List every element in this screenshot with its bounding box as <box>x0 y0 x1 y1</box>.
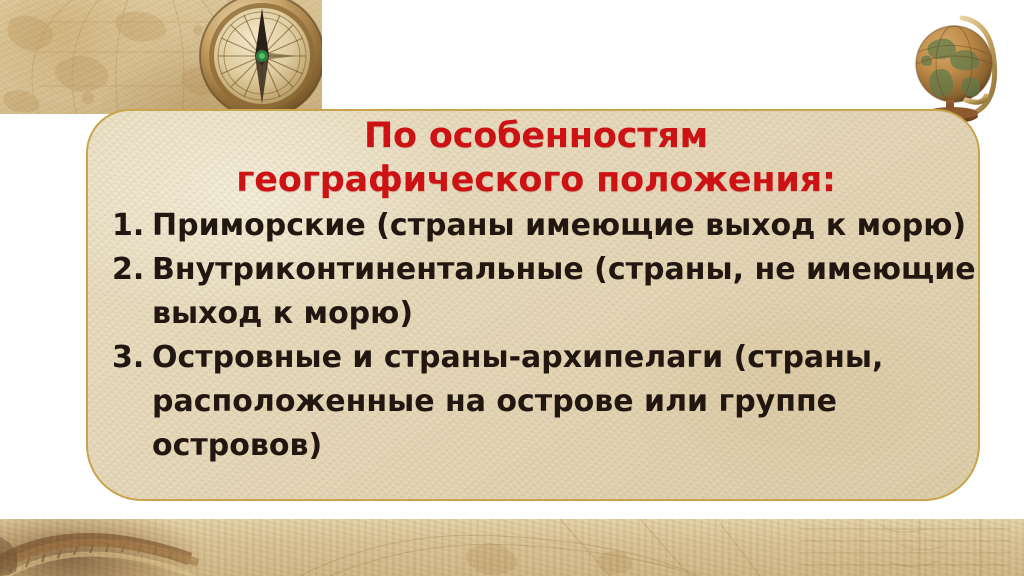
list-item-text: Внутриконтинентальные (страны, не имеющи… <box>152 252 976 331</box>
list-item-number: 3. <box>112 336 150 380</box>
slide-title: По особенностям географического положени… <box>86 106 986 202</box>
list-item: 3. Островные и страны-архипелаги (страны… <box>112 336 976 468</box>
classification-list: 1. Приморские (страны имеющие выход к мо… <box>86 202 986 468</box>
list-item-text: Приморские (страны имеющие выход к морю) <box>152 208 966 243</box>
slide-canvas: По особенностям географического положени… <box>0 0 1024 576</box>
map-strip-grain <box>0 519 1024 576</box>
list-item-number: 1. <box>112 204 150 248</box>
antique-map-image <box>0 0 322 114</box>
list-item: 1. Приморские (страны имеющие выход к мо… <box>112 204 976 248</box>
list-item: 2. Внутриконтинентальные (страны, не име… <box>112 248 976 336</box>
slide-text: По особенностям географического положени… <box>86 106 986 536</box>
title-line-1: По особенностям <box>364 116 708 156</box>
compass-icon <box>196 0 322 114</box>
title-line-2: географического положения: <box>236 160 836 200</box>
antique-map-strip-image <box>0 519 1024 576</box>
list-item-number: 2. <box>112 248 150 292</box>
list-item-text: Островные и страны-архипелаги (страны, р… <box>152 340 883 463</box>
